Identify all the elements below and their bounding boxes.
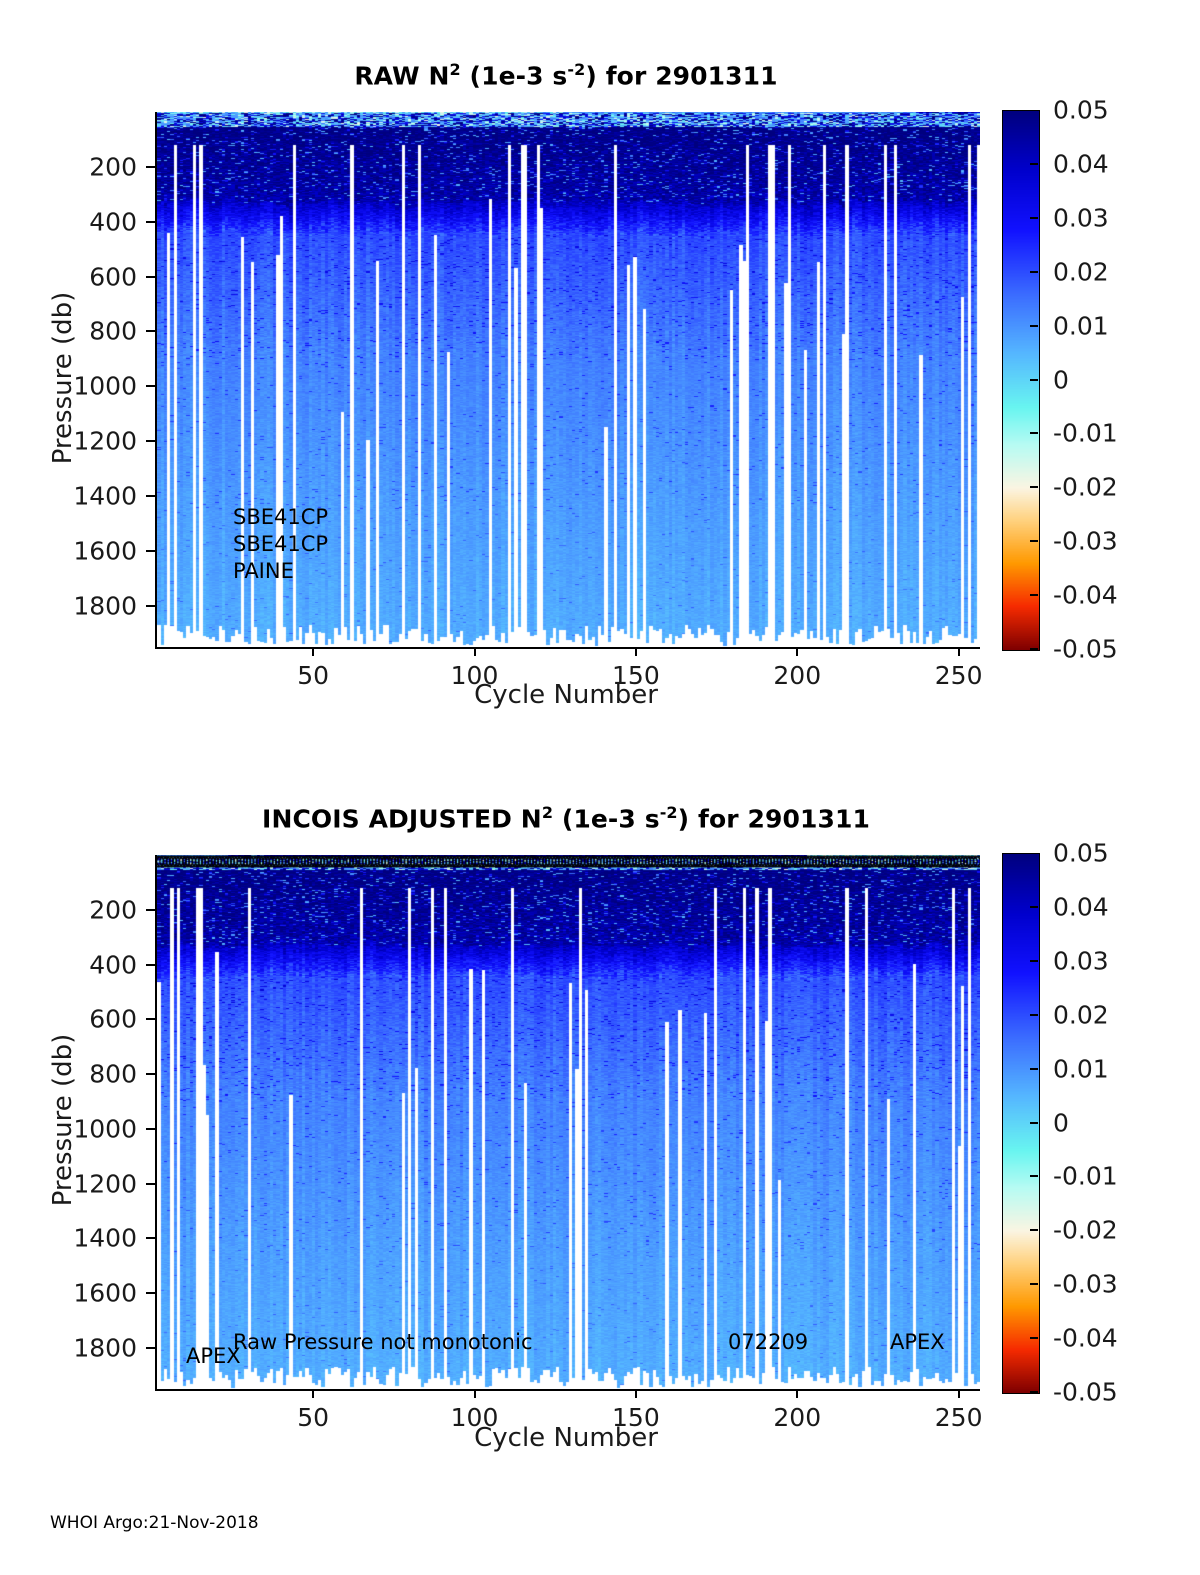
raw-x-axis-label: Cycle Number (474, 680, 658, 710)
xtick-mark (474, 647, 476, 656)
adjusted-heatmap-axes[interactable] (155, 855, 980, 1391)
xtick-mark (958, 1389, 960, 1398)
ytick-mark (146, 495, 155, 497)
adjusted-heatmap-canvas (157, 855, 980, 1389)
colorbar-tick-label: 0.01 (1053, 1054, 1109, 1083)
colorbar-tick-label: -0.01 (1053, 419, 1118, 448)
xtick-label: 50 (297, 1403, 329, 1432)
colorbar-tick-label: 0.03 (1053, 946, 1109, 975)
colorbar-tick-label: 0.04 (1053, 149, 1109, 178)
colorbar-tick-mark (1030, 1337, 1038, 1339)
title-text-mid: (1e-3 s (461, 61, 568, 90)
colorbar-tick-label: -0.04 (1053, 581, 1118, 610)
xtick-mark (635, 1389, 637, 1398)
xtick-label: 250 (935, 661, 983, 690)
ytick-label: 1600 (0, 536, 137, 565)
xtick-mark (958, 647, 960, 656)
adjusted-colorbar[interactable] (1002, 853, 1040, 1394)
ytick-label: 1600 (0, 1279, 137, 1308)
ytick-mark (146, 440, 155, 442)
colorbar-tick-label: -0.01 (1053, 1162, 1118, 1191)
adjusted-y-axis-label: Pressure (db) (48, 970, 78, 1270)
colorbar-tick-label: -0.03 (1053, 1270, 1118, 1299)
colorbar-tick-mark (1030, 906, 1038, 908)
colorbar-tick-mark (1030, 325, 1038, 327)
title-text-pre: INCOIS ADJUSTED N (262, 804, 542, 833)
ytick-mark (146, 1018, 155, 1020)
plot-annotation: SBE41CP (233, 504, 328, 532)
xtick-mark (796, 647, 798, 656)
xtick-label: 50 (297, 661, 329, 690)
title-text-post: ) for 2901311 (678, 804, 870, 833)
ytick-mark (146, 166, 155, 168)
ytick-mark (146, 385, 155, 387)
xtick-label: 250 (935, 1403, 983, 1432)
ytick-mark (146, 964, 155, 966)
plot-annotation: APEX (890, 1329, 945, 1357)
ytick-mark (146, 1128, 155, 1130)
colorbar-tick-mark (1030, 379, 1038, 381)
ytick-mark (146, 909, 155, 911)
raw-colorbar[interactable] (1002, 110, 1040, 651)
xtick-mark (635, 647, 637, 656)
title-text-pre: RAW N (354, 61, 449, 90)
raw-y-axis-label: Pressure (db) (48, 228, 78, 528)
title-sup-n2: 2 (542, 803, 553, 822)
colorbar-tick-mark (1030, 1014, 1038, 1016)
title-text-mid: (1e-3 s (553, 804, 660, 833)
colorbar-tick-label: 0.02 (1053, 257, 1109, 286)
colorbar-tick-label: -0.04 (1053, 1324, 1118, 1353)
ytick-label: 200 (0, 895, 137, 924)
colorbar-tick-mark (1030, 1283, 1038, 1285)
colorbar-tick-mark (1030, 1391, 1038, 1393)
ytick-mark (146, 550, 155, 552)
adjusted-x-axis-label: Cycle Number (474, 1423, 658, 1453)
ytick-label: 1800 (0, 1333, 137, 1362)
xtick-label: 200 (773, 661, 821, 690)
colorbar-tick-label: -0.02 (1053, 473, 1118, 502)
adjusted-colorbar-gradient (1003, 854, 1039, 1393)
ytick-mark (146, 276, 155, 278)
ytick-label: 200 (0, 152, 137, 181)
colorbar-tick-label: 0 (1053, 1108, 1069, 1137)
xtick-label: 200 (773, 1403, 821, 1432)
ytick-mark (146, 330, 155, 332)
ytick-mark (146, 1183, 155, 1185)
colorbar-tick-mark (1030, 432, 1038, 434)
colorbar-tick-mark (1030, 648, 1038, 650)
colorbar-tick-mark (1030, 217, 1038, 219)
plot-annotation: 072209 (728, 1329, 808, 1357)
xtick-mark (796, 1389, 798, 1398)
title-sup-s2: -2 (660, 803, 678, 822)
ytick-mark (146, 1347, 155, 1349)
ytick-mark (146, 1292, 155, 1294)
colorbar-tick-label: -0.02 (1053, 1216, 1118, 1245)
plot-annotation: Raw Pressure not monotonic (233, 1329, 533, 1357)
title-sup-n2: 2 (450, 60, 461, 79)
ytick-mark (146, 221, 155, 223)
colorbar-tick-mark (1030, 960, 1038, 962)
xtick-mark (474, 1389, 476, 1398)
colorbar-tick-mark (1030, 1068, 1038, 1070)
raw-plot-title: RAW N2 (1e-3 s-2) for 2901311 (0, 60, 1132, 90)
raw-colorbar-gradient (1003, 111, 1039, 650)
colorbar-tick-mark (1030, 1229, 1038, 1231)
ytick-mark (146, 605, 155, 607)
colorbar-tick-label: 0.05 (1053, 96, 1109, 125)
ytick-label: 1800 (0, 591, 137, 620)
xtick-mark (312, 1389, 314, 1398)
ytick-mark (146, 1237, 155, 1239)
colorbar-tick-mark (1030, 486, 1038, 488)
colorbar-tick-mark (1030, 1122, 1038, 1124)
colorbar-tick-label: 0.03 (1053, 203, 1109, 232)
plot-annotation: SBE41CP (233, 531, 328, 559)
colorbar-tick-label: 0 (1053, 365, 1069, 394)
colorbar-tick-mark (1030, 540, 1038, 542)
colorbar-tick-mark (1030, 163, 1038, 165)
colorbar-tick-mark (1030, 1175, 1038, 1177)
title-sup-s2: -2 (567, 60, 585, 79)
colorbar-tick-label: 0.04 (1053, 892, 1109, 921)
colorbar-tick-label: -0.05 (1053, 635, 1118, 664)
xtick-mark (312, 647, 314, 656)
adjusted-plot-title: INCOIS ADJUSTED N2 (1e-3 s-2) for 290131… (0, 803, 1132, 833)
colorbar-tick-label: 0.02 (1053, 1000, 1109, 1029)
colorbar-tick-mark (1030, 271, 1038, 273)
figure-footer: WHOI Argo:21-Nov-2018 (50, 1513, 259, 1533)
colorbar-tick-mark (1030, 594, 1038, 596)
plot-annotation: PAINE (233, 558, 294, 586)
title-text-post: ) for 2901311 (585, 61, 777, 90)
colorbar-tick-label: -0.05 (1053, 1378, 1118, 1407)
colorbar-tick-label: -0.03 (1053, 527, 1118, 556)
colorbar-tick-label: 0.01 (1053, 311, 1109, 340)
ytick-mark (146, 1073, 155, 1075)
colorbar-tick-label: 0.05 (1053, 839, 1109, 868)
